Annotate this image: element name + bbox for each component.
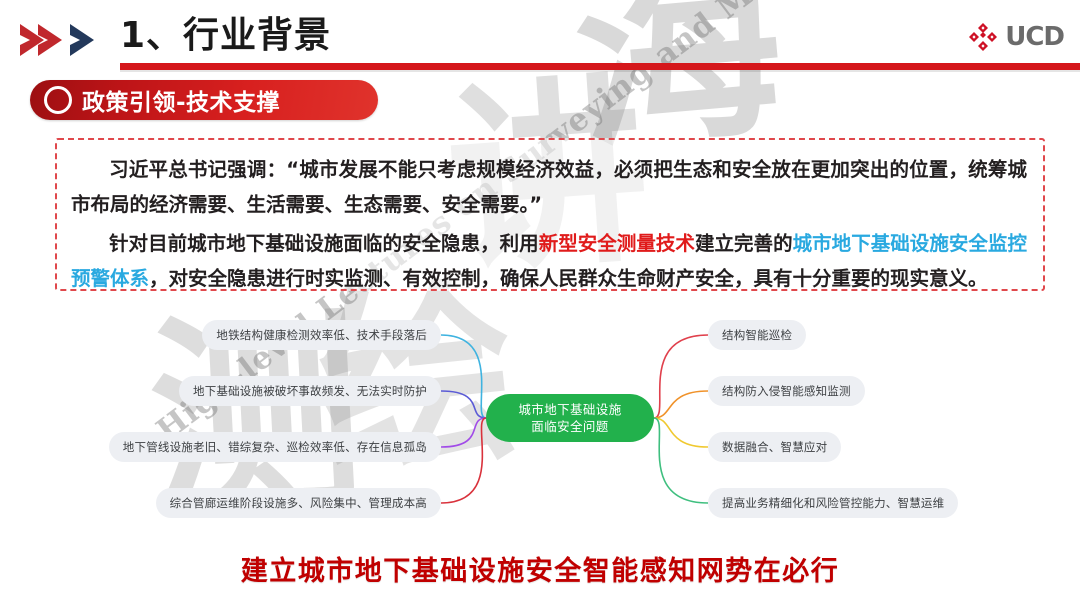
connector-right-1 (654, 335, 708, 418)
chevron-group (18, 24, 114, 56)
quote-callout-box: 习近平总书记强调：“城市发展不能只考虑规模经济效益，必须把生态和安全放在更加突出… (55, 138, 1045, 291)
connector-right-4 (654, 418, 708, 503)
circle-outline-icon (44, 86, 72, 114)
brand-logo: UCD (968, 22, 1064, 52)
page-title: 1、行业背景 (120, 6, 331, 58)
connector-left-1 (441, 335, 486, 418)
mindmap-node-right-4[interactable]: 提高业务精细化和风险管控能力、智慧运维 (708, 488, 958, 518)
connector-right-2 (654, 391, 708, 418)
mindmap-center-line2: 面临安全问题 (531, 418, 608, 435)
mindmap-node-right-1-label: 结构智能巡检 (722, 327, 792, 343)
logo-wordmark: UCD (1005, 22, 1064, 52)
quote-paragraph-1: 习近平总书记强调：“城市发展不能只考虑规模经济效益，必须把生态和安全放在更加突出… (71, 152, 1027, 222)
slide-header: 1、行业背景 (0, 0, 1080, 72)
connector-right-3 (654, 418, 708, 447)
mindmap-node-left-4-label: 综合管廊运维阶段设施多、风险集中、管理成本高 (170, 495, 427, 511)
mindmap-node-right-1[interactable]: 结构智能巡检 (708, 320, 806, 350)
mindmap-node-right-4-label: 提高业务精细化和风险管控能力、智慧运维 (722, 495, 944, 511)
section-heading-label: 政策引领-技术支撑 (82, 83, 280, 117)
header-rule (120, 63, 1080, 70)
mindmap-center-node[interactable]: 城市地下基础设施 面临安全问题 (486, 394, 654, 442)
connector-left-4 (441, 418, 486, 503)
ucd-diamond-icon (968, 22, 998, 52)
mindmap-node-right-3-label: 数据融合、智慧应对 (722, 439, 827, 455)
mindmap-node-left-2-label: 地下基础设施被破坏事故频发、无法实时防护 (193, 383, 427, 399)
section-heading-pill: 政策引领-技术支撑 (30, 80, 378, 120)
mindmap-node-right-3[interactable]: 数据融合、智慧应对 (708, 432, 841, 462)
conclusion-statement: 建立城市地下基础设施安全智能感知网势在必行 (0, 549, 1080, 588)
quote-p2-highlight-red: 新型安全测量技术 (539, 232, 695, 255)
quote-p2-part2: 建立完善的 (695, 232, 793, 255)
mindmap-node-left-3[interactable]: 地下管线设施老旧、错综复杂、巡检效率低、存在信息孤岛 (109, 432, 441, 462)
quote-paragraph-1-text: 习近平总书记强调：“城市发展不能只考虑规模经济效益，必须把生态和安全放在更加突出… (71, 158, 1027, 216)
mindmap-node-left-1[interactable]: 地铁结构健康检测效率低、技术手段落后 (202, 320, 441, 350)
connector-left-3 (441, 418, 486, 447)
connector-left-2 (441, 391, 486, 418)
mindmap-node-left-4[interactable]: 综合管廊运维阶段设施多、风险集中、管理成本高 (156, 488, 441, 518)
quote-p2-part1: 针对目前城市地下基础设施面临的安全隐患，利用 (109, 232, 539, 255)
quote-p2-part3: ，对安全隐患进行时实监测、有效控制，确保人民群众生命财产安全，具有十分重要的现实… (149, 267, 988, 290)
quote-paragraph-2: 针对目前城市地下基础设施面临的安全隐患，利用新型安全测量技术建立完善的城市地下基… (71, 226, 1027, 296)
mindmap-node-left-2[interactable]: 地下基础设施被破坏事故频发、无法实时防护 (179, 376, 441, 406)
mindmap-node-left-1-label: 地铁结构健康检测效率低、技术手段落后 (216, 327, 427, 343)
mindmap-node-right-2[interactable]: 结构防入侵智能感知监测 (708, 376, 865, 406)
mindmap-diagram: 地铁结构健康检测效率低、技术手段落后 地下基础设施被破坏事故频发、无法实时防护 … (0, 300, 1080, 535)
chevron-right-icon-navy (52, 24, 102, 56)
mindmap-node-left-3-label: 地下管线设施老旧、错综复杂、巡检效率低、存在信息孤岛 (123, 439, 427, 455)
header-rule-shadow (120, 70, 1080, 72)
mindmap-center-line1: 城市地下基础设施 (518, 401, 621, 418)
slide-canvas: 海 讲 测 绘 High-level Lectures on Surveying… (0, 0, 1080, 607)
mindmap-node-right-2-label: 结构防入侵智能感知监测 (722, 383, 851, 399)
